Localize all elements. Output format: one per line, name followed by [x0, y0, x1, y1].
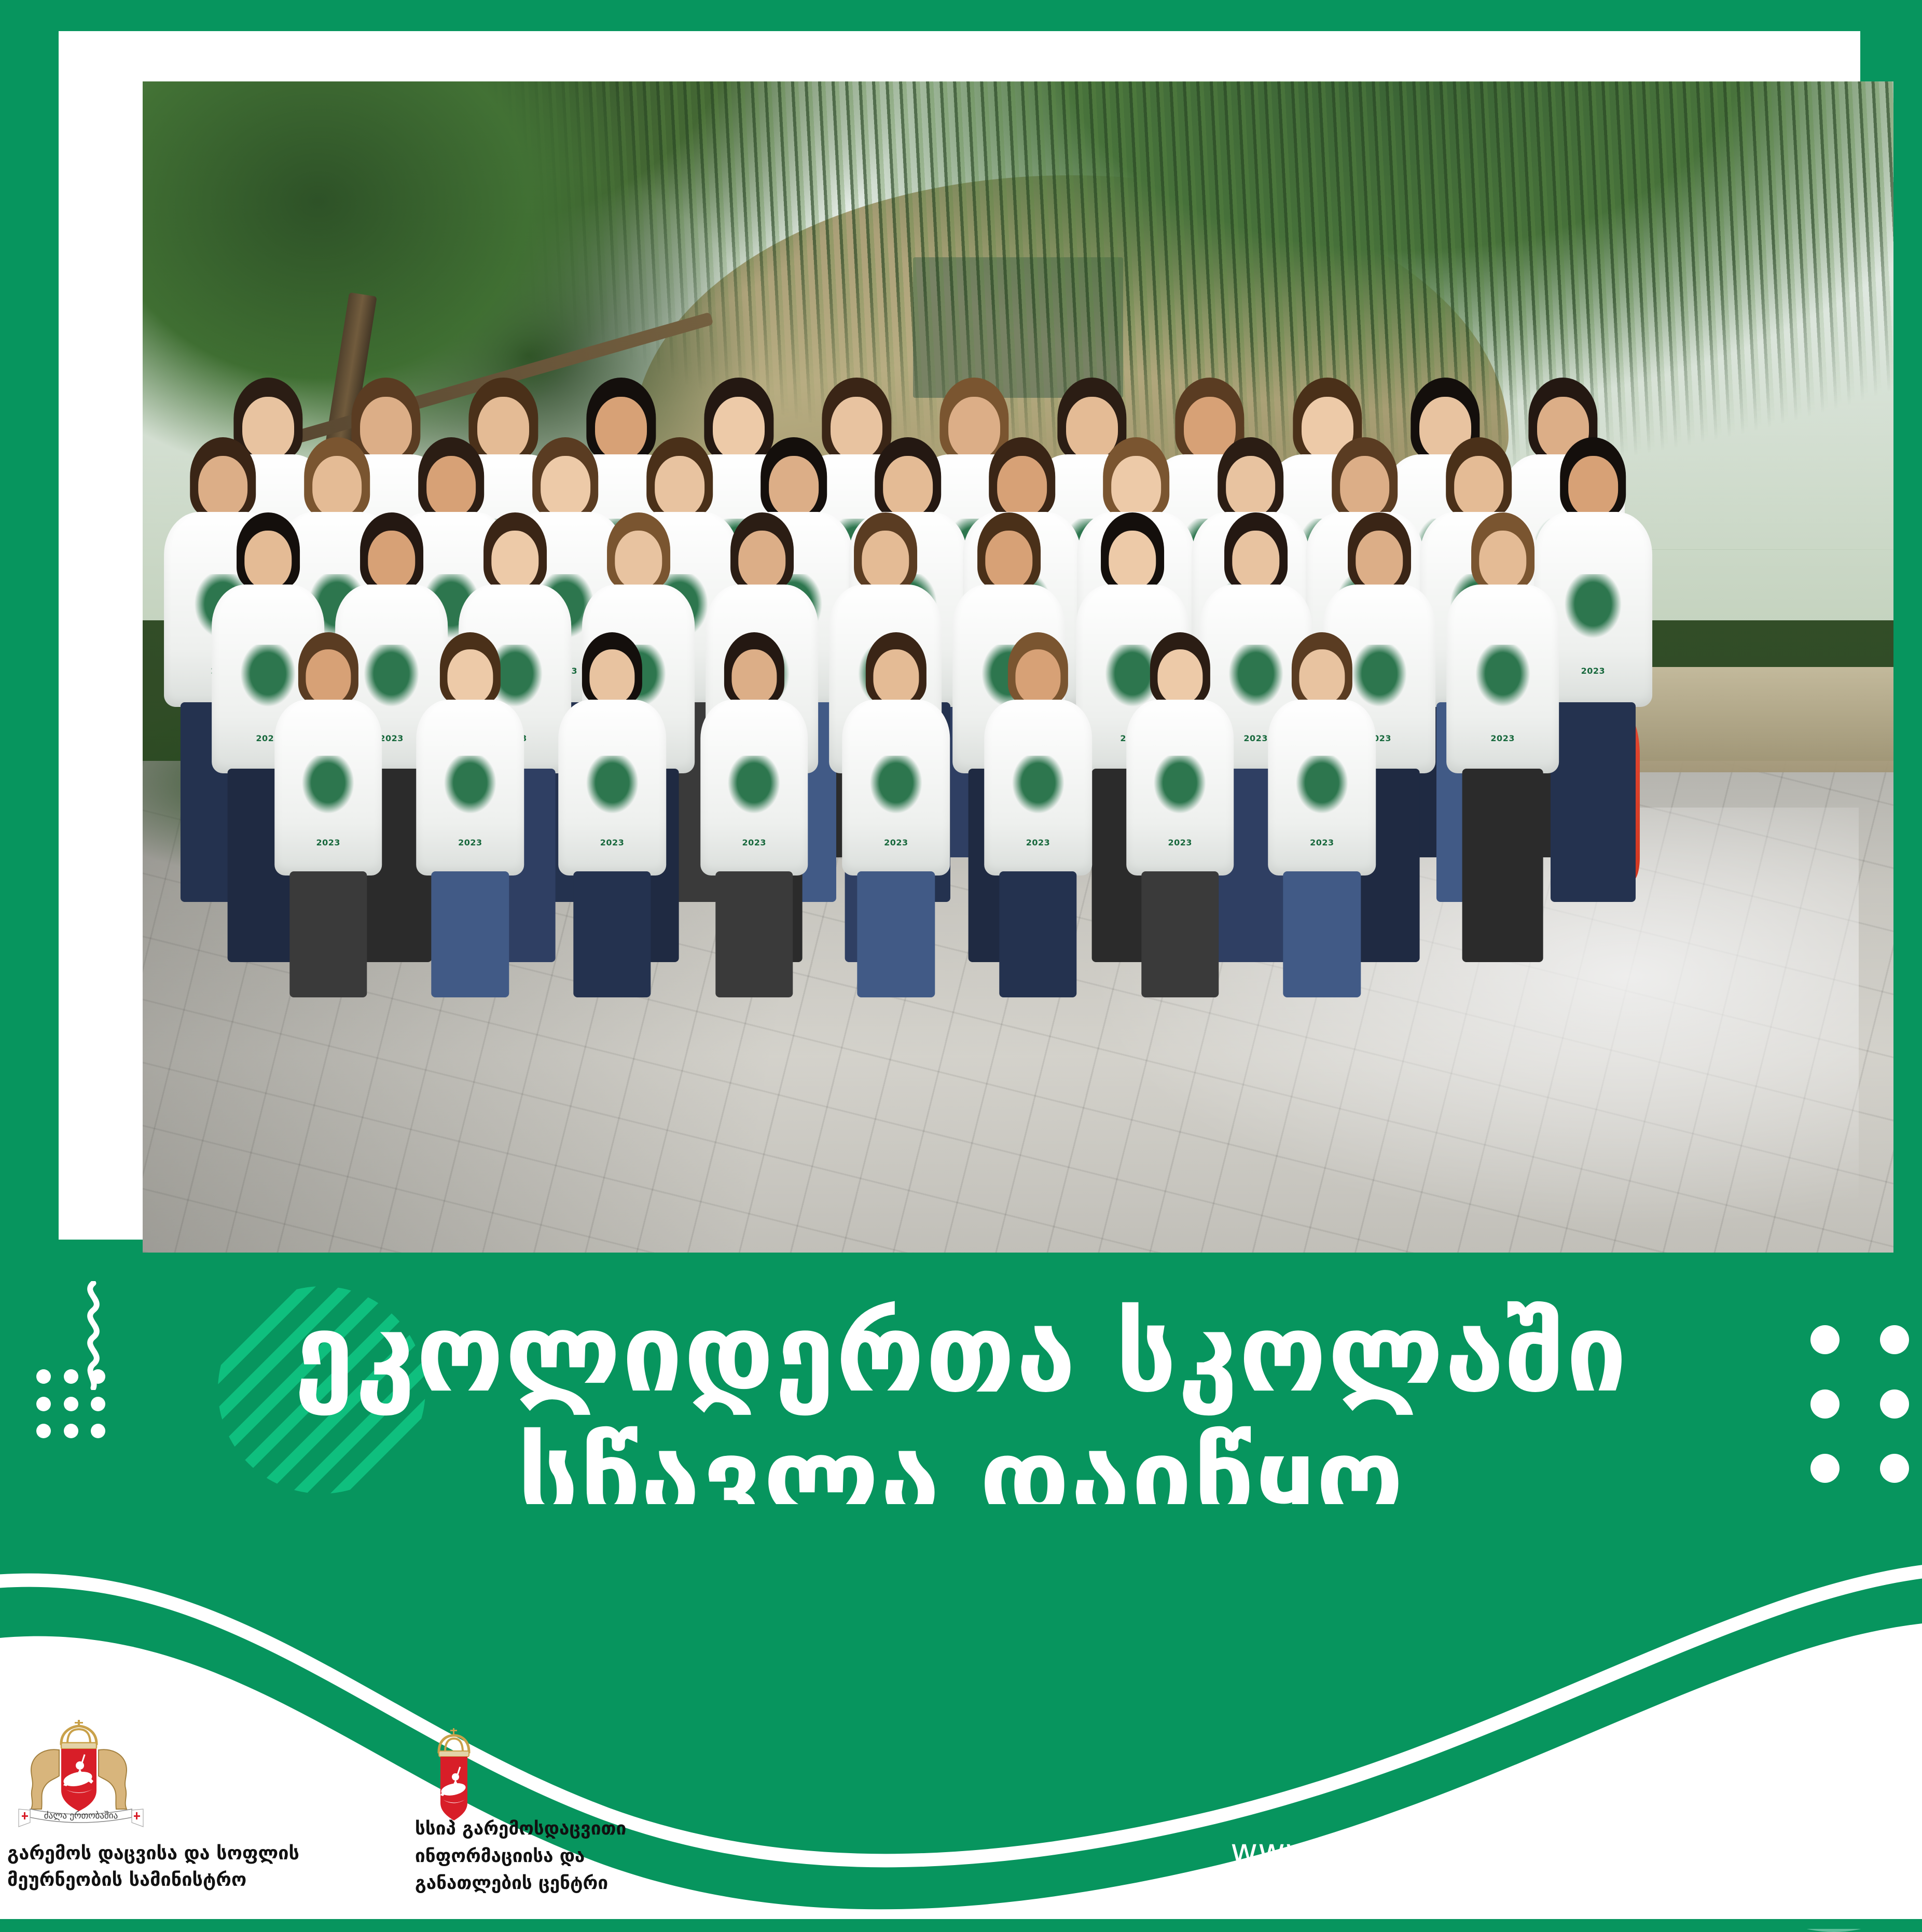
student-white-tshirt: 2023 — [700, 700, 808, 876]
tshirt-logo-year: 2023 — [742, 838, 766, 847]
student-head — [312, 456, 362, 516]
student-head — [448, 649, 493, 704]
student-white-tshirt: 2023 — [274, 700, 382, 876]
contact-line: www.eiec.gov.ge | info@eiec.gov.ge — [1230, 1832, 1835, 1871]
student-head — [1454, 456, 1504, 516]
student-head — [1157, 649, 1202, 704]
student-head — [1479, 531, 1526, 589]
group-photo: 2023202320232023202320232023202320232023… — [143, 81, 1893, 1253]
center-name-line-2: ინფორმაციისა და — [415, 1843, 789, 1870]
student-head — [1226, 456, 1276, 516]
student: 2023 — [842, 632, 950, 1052]
tshirt-logo — [1563, 574, 1624, 641]
student-head — [1299, 649, 1345, 704]
student-head — [1568, 456, 1618, 516]
student-head — [1112, 456, 1162, 516]
tshirt-logo-year: 2023 — [458, 838, 482, 847]
student-head — [1109, 531, 1156, 589]
center-name-line-3: განათლების ცენტრი — [415, 1870, 789, 1897]
student: 2023 — [417, 632, 524, 1052]
tshirt-logo-year: 2023 — [884, 838, 908, 847]
student-head — [541, 456, 590, 516]
student-head — [1232, 531, 1279, 589]
student-white-tshirt: 2023 — [1268, 700, 1376, 876]
ministry-name-line-1: გარემოს დაცვისა და სოფლის — [7, 1840, 402, 1867]
tshirt-logo-year: 2023 — [1026, 838, 1050, 847]
center-name: სსიპ გარემოსდაცვითი ინფორმაციისა და განა… — [415, 1815, 789, 1897]
student-head — [731, 649, 777, 704]
ministry-name: გარემოს დაცვისა და სოფლის მეურნეობის სამ… — [7, 1840, 402, 1893]
student: 2023 — [558, 632, 666, 1052]
website-link[interactable]: www.eiec.gov.ge — [1230, 1832, 1513, 1871]
coat-of-arms-motto: ძალა ერთობაშია — [44, 1811, 118, 1821]
student-head — [368, 531, 415, 589]
student-head — [1015, 649, 1060, 704]
tshirt-logo-year: 2023 — [379, 733, 404, 743]
student-head — [491, 531, 538, 589]
tshirt-logo-year: 2023 — [1168, 838, 1192, 847]
tshirt-logo — [300, 756, 356, 816]
tshirt-logo — [1294, 756, 1350, 816]
student-legs — [432, 871, 509, 997]
poster-root: 2023202320232023202320232023202320232023… — [0, 0, 1922, 1919]
student: 2023 — [1126, 632, 1234, 1052]
student-head — [198, 456, 248, 516]
student-white-tshirt: 2023 — [1446, 585, 1559, 773]
tshirt-logo — [584, 756, 640, 816]
student-white-tshirt: 2023 — [417, 700, 524, 876]
student-head — [244, 531, 292, 589]
student-white-tshirt: 2023 — [842, 700, 950, 876]
student-head — [985, 531, 1032, 589]
student-head — [1340, 456, 1390, 516]
student-head — [738, 531, 785, 589]
student-head — [883, 456, 933, 516]
tshirt-logo — [1152, 756, 1208, 816]
student-white-tshirt: 2023 — [984, 700, 1092, 876]
student: 2023 — [700, 632, 808, 1052]
student-head — [862, 531, 909, 589]
student-group: 2023202320232023202320232023202320232023… — [178, 363, 1684, 1112]
student-head — [769, 456, 819, 516]
tshirt-logo-year: 2023 — [316, 838, 340, 847]
tshirt-logo-year: 2023 — [600, 838, 625, 847]
student-legs — [858, 871, 935, 997]
student-legs — [715, 871, 793, 997]
email-link[interactable]: info@eiec.gov.ge — [1546, 1832, 1835, 1871]
student: 2023 — [984, 632, 1092, 1052]
tshirt-logo-year: 2023 — [1581, 666, 1606, 676]
student-legs — [1283, 871, 1361, 997]
student-white-tshirt: 2023 — [1126, 700, 1234, 876]
title-line-1: ეკოლიდერთა სკოლაში — [0, 1291, 1922, 1416]
student-head — [306, 649, 351, 704]
tshirt-logo-year: 2023 — [1490, 733, 1515, 743]
student-head — [874, 649, 919, 704]
student-head — [655, 456, 704, 516]
student-legs — [289, 871, 367, 997]
photo-canvas: 2023202320232023202320232023202320232023… — [143, 81, 1893, 1253]
tshirt-logo — [1010, 756, 1066, 816]
student-head — [1356, 531, 1403, 589]
contact-separator: | — [1524, 1832, 1535, 1871]
ministry-name-line-2: მეურნეობის სამინისტრო — [7, 1867, 402, 1893]
student-head — [997, 456, 1047, 516]
student-head — [615, 531, 662, 589]
student-head — [589, 649, 634, 704]
tshirt-logo — [1473, 645, 1532, 709]
student-legs — [1462, 769, 1543, 962]
tshirt-logo — [868, 756, 924, 816]
georgia-coat-of-arms-icon: ძალა ერთობაშია — [11, 1718, 151, 1829]
georgia-shield-crown-icon — [415, 1727, 493, 1828]
student: 2023 — [274, 632, 382, 1052]
student-legs — [1141, 871, 1219, 997]
student-legs — [1551, 702, 1636, 902]
student: 2023 — [1446, 512, 1559, 962]
tshirt-logo-year: 2023 — [1310, 838, 1334, 847]
student: 2023 — [1268, 632, 1376, 1052]
tshirt-logo — [726, 756, 782, 816]
tshirt-logo — [442, 756, 498, 816]
tshirt-logo-year: 2023 — [1243, 733, 1268, 743]
center-name-line-1: სსიპ გარემოსდაცვითი — [415, 1815, 789, 1843]
student-head — [426, 456, 476, 516]
student-legs — [573, 871, 651, 997]
student-white-tshirt: 2023 — [558, 700, 666, 876]
student-legs — [999, 871, 1076, 997]
photo-frame: 2023202320232023202320232023202320232023… — [59, 31, 1860, 1240]
